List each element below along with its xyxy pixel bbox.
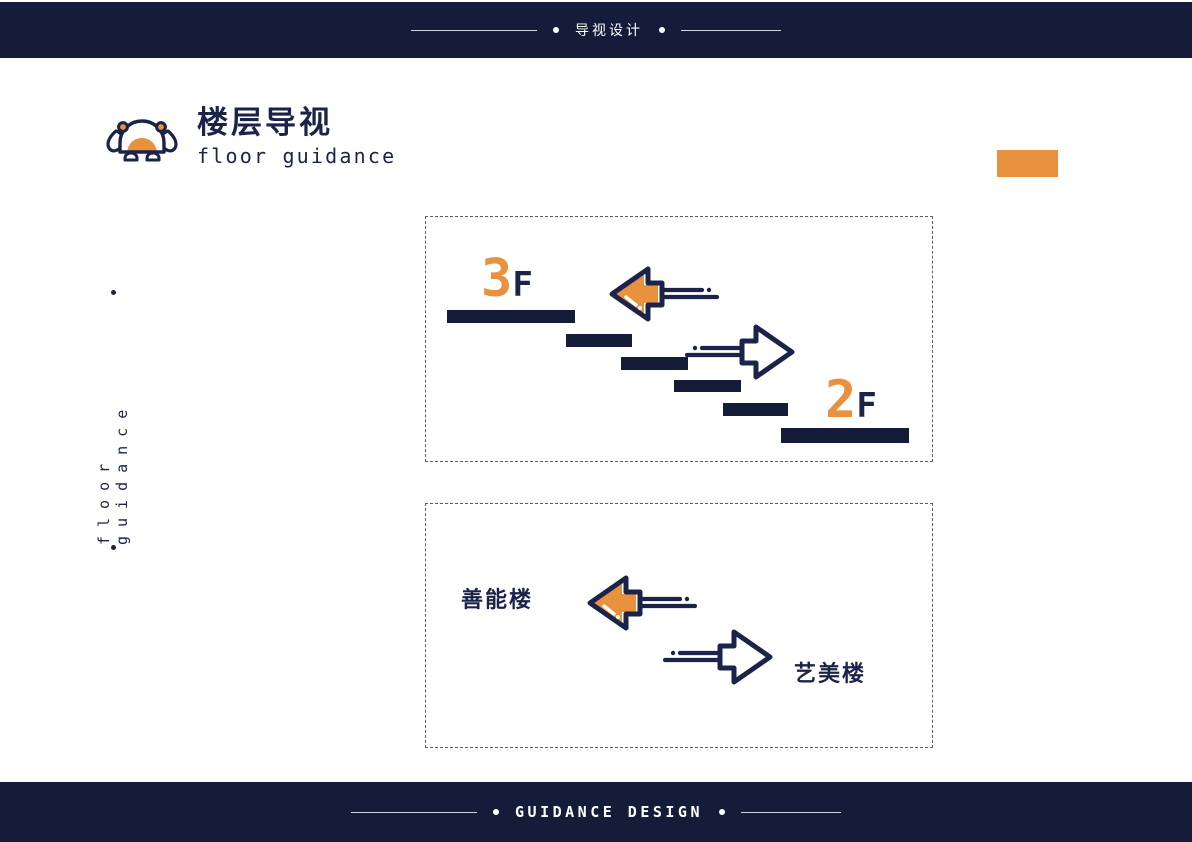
footer-dot-right (719, 809, 725, 815)
building-arrows (426, 504, 932, 747)
header-title: 导视设计 (575, 20, 643, 40)
floor-arrows (426, 217, 932, 461)
header-rule-right (681, 30, 781, 31)
footer-band: GUIDANCE DESIGN (0, 782, 1192, 842)
side-label-text: floor guidance (95, 295, 131, 545)
arrow-left-filled (612, 269, 717, 319)
side-dot-bottom (111, 545, 116, 550)
footer-rule-left (351, 812, 477, 813)
header-inner: 导视设计 (411, 20, 781, 40)
panel-floor-signs: 3F2F (425, 216, 933, 462)
header-rule-left (411, 30, 537, 31)
side-label: floor guidance (96, 290, 130, 550)
dome-creature-icon (103, 110, 181, 168)
logo-title-en: floor guidance (197, 146, 396, 166)
footer-dot-left (493, 809, 499, 815)
footer-title: GUIDANCE DESIGN (515, 803, 703, 821)
arrow-right-outline (687, 327, 792, 377)
header-dot-left (553, 27, 559, 33)
footer-rule-right (741, 812, 841, 813)
header-band: 导视设计 (0, 2, 1192, 58)
footer-inner: GUIDANCE DESIGN (351, 803, 841, 821)
logo-text: 楼层导视 floor guidance (197, 108, 396, 168)
arrow-left-filled (590, 578, 695, 628)
accent-chip (997, 150, 1058, 177)
header-dot-right (659, 27, 665, 33)
arrow-right-outline (665, 632, 770, 682)
logo-block: 楼层导视 floor guidance (103, 108, 396, 168)
panel-building-signs: 善能楼艺美楼 (425, 503, 933, 748)
logo-title-cn: 楼层导视 (197, 108, 396, 139)
